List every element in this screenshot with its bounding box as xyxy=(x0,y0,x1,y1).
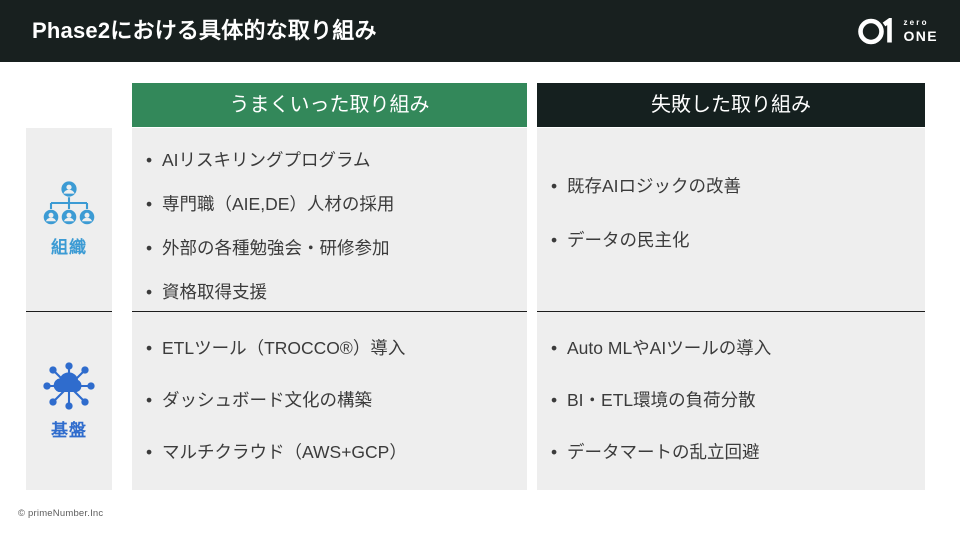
bullet-glyph: • xyxy=(551,176,567,198)
brand-logo: zero ONE xyxy=(858,14,938,48)
list-item: • 資格取得支援 xyxy=(146,282,509,304)
bullet-glyph: • xyxy=(551,390,567,412)
logo-wordmark: zero ONE xyxy=(903,19,938,43)
copyright-footer: © primeNumber.Inc xyxy=(18,508,103,519)
list-item-label: データの民主化 xyxy=(567,230,907,252)
logo-mark-icon xyxy=(858,18,896,45)
title-bar: Phase2における具体的な取り組み zero ONE xyxy=(0,0,960,62)
bullet-list-good-organization: • AIリスキリングプログラム • 専門職（AIE,DE）人材の採用 • 外部の… xyxy=(132,150,527,304)
list-item: • ETLツール（TROCCO®）導入 xyxy=(146,338,509,360)
panel-good-infrastructure: • ETLツール（TROCCO®）導入 • ダッシュボード文化の構築 • マルチ… xyxy=(132,312,527,490)
column-header-bad-label: 失敗した取り組み xyxy=(651,94,811,116)
row-label-organization-text: 組織 xyxy=(51,233,87,258)
row-label-infrastructure: 基盤 xyxy=(26,312,112,490)
list-item: • 既存AIロジックの改善 xyxy=(551,176,907,198)
list-item: • データマートの乱立回避 xyxy=(551,442,907,464)
row-divider-good xyxy=(132,311,527,312)
bullet-glyph: • xyxy=(551,230,567,252)
bullet-glyph: • xyxy=(551,338,567,360)
slide: Phase2における具体的な取り組み zero ONE うまくいった取り組み 失… xyxy=(0,0,960,540)
column-header-bad: 失敗した取り組み xyxy=(537,83,925,127)
column-header-good-label: うまくいった取り組み xyxy=(230,94,430,116)
panel-good-organization: • AIリスキリングプログラム • 専門職（AIE,DE）人材の採用 • 外部の… xyxy=(132,128,527,311)
row-label-infrastructure-text: 基盤 xyxy=(51,416,87,441)
list-item-label: AIリスキリングプログラム xyxy=(162,150,509,172)
panel-bad-organization: • 既存AIロジックの改善 • データの民主化 xyxy=(537,128,925,311)
list-item-label: ダッシュボード文化の構築 xyxy=(162,390,509,412)
bullet-glyph: • xyxy=(146,238,162,260)
list-item-label: 資格取得支援 xyxy=(162,282,509,304)
bullet-glyph: • xyxy=(551,442,567,464)
list-item-label: 外部の各種勉強会・研修参加 xyxy=(162,238,509,260)
bullet-glyph: • xyxy=(146,150,162,172)
logo-one-text: ONE xyxy=(903,29,938,43)
list-item-label: BI・ETL環境の負荷分散 xyxy=(567,390,907,412)
bullet-list-good-infrastructure: • ETLツール（TROCCO®）導入 • ダッシュボード文化の構築 • マルチ… xyxy=(132,338,527,464)
list-item: • Auto MLやAIツールの導入 xyxy=(551,338,907,360)
list-item: • マルチクラウド（AWS+GCP） xyxy=(146,442,509,464)
row-divider-bad xyxy=(537,311,925,312)
page-title: Phase2における具体的な取り組み xyxy=(32,0,377,62)
column-header-good: うまくいった取り組み xyxy=(132,83,527,127)
list-item: • 外部の各種勉強会・研修参加 xyxy=(146,238,509,260)
logo-zero-text: zero xyxy=(903,19,938,27)
row-label-organization: 組織 xyxy=(26,128,112,311)
bullet-glyph: • xyxy=(146,442,162,464)
org-chart-icon xyxy=(43,181,95,227)
list-item-label: Auto MLやAIツールの導入 xyxy=(567,338,907,360)
row-divider-rail xyxy=(26,311,112,312)
bullet-glyph: • xyxy=(146,338,162,360)
cloud-network-icon xyxy=(42,362,96,410)
list-item: • 専門職（AIE,DE）人材の採用 xyxy=(146,194,509,216)
bullet-glyph: • xyxy=(146,194,162,216)
bullet-glyph: • xyxy=(146,390,162,412)
panel-bad-infrastructure: • Auto MLやAIツールの導入 • BI・ETL環境の負荷分散 • データ… xyxy=(537,312,925,490)
list-item: • ダッシュボード文化の構築 xyxy=(146,390,509,412)
list-item: • BI・ETL環境の負荷分散 xyxy=(551,390,907,412)
list-item: • AIリスキリングプログラム xyxy=(146,150,509,172)
list-item-label: データマートの乱立回避 xyxy=(567,442,907,464)
bullet-list-bad-infrastructure: • Auto MLやAIツールの導入 • BI・ETL環境の負荷分散 • データ… xyxy=(537,338,925,464)
list-item-label: 既存AIロジックの改善 xyxy=(567,176,907,198)
bullet-list-bad-organization: • 既存AIロジックの改善 • データの民主化 xyxy=(537,176,925,252)
list-item-label: ETLツール（TROCCO®）導入 xyxy=(162,338,509,360)
bullet-glyph: • xyxy=(146,282,162,304)
list-item: • データの民主化 xyxy=(551,230,907,252)
list-item-label: マルチクラウド（AWS+GCP） xyxy=(162,442,509,464)
list-item-label: 専門職（AIE,DE）人材の採用 xyxy=(162,194,509,216)
